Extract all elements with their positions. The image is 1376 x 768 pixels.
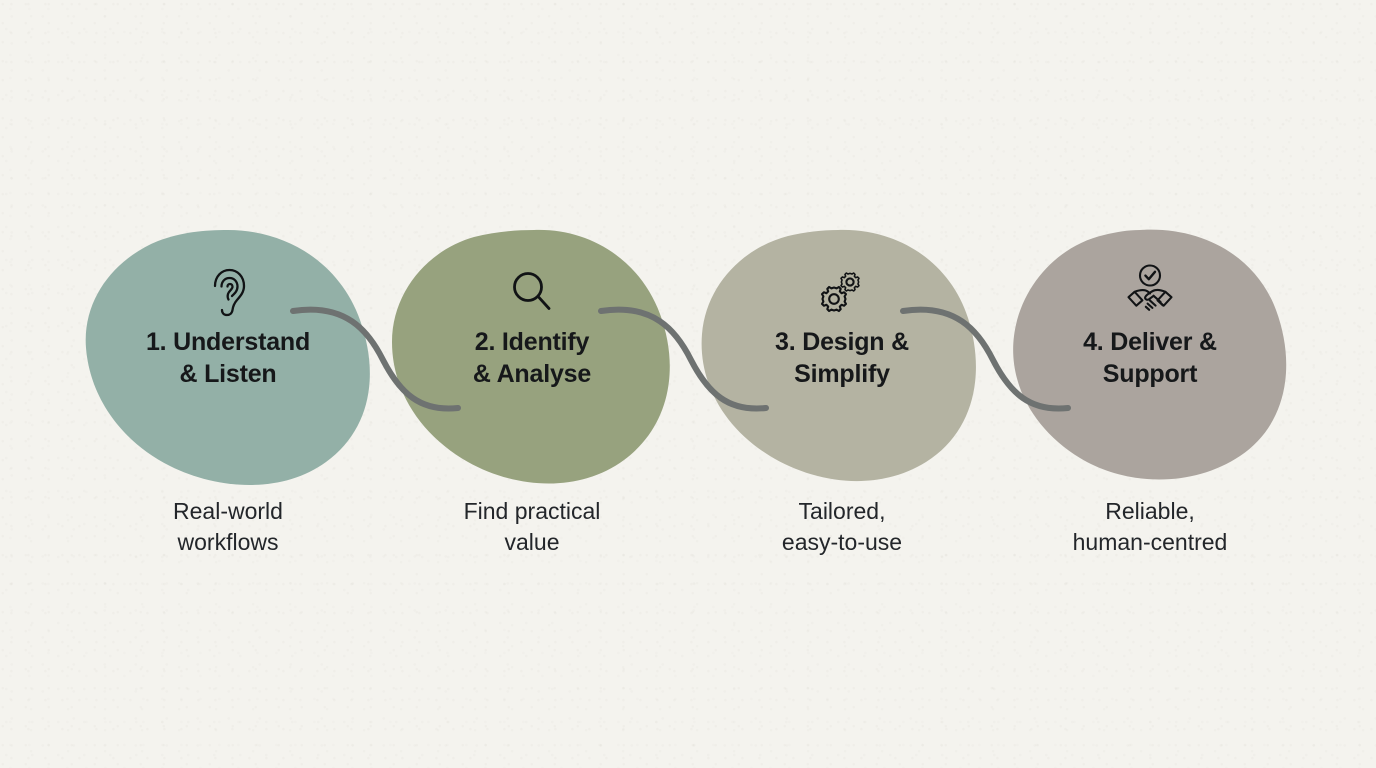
step-card-understand-listen[interactable]: 1. Understand & Listen Real-world workfl… [78,228,378,486]
step-caption: Reliable, human-centred [1000,496,1300,559]
step-card-identify-analyse[interactable]: 2. Identify & Analyse Find practical val… [382,228,682,486]
step-card-deliver-support[interactable]: 4. Deliver & Support Reliable, human-cen… [1000,228,1300,486]
step-caption: Tailored, easy-to-use [692,496,992,559]
blob-shape-deliver-support [1000,228,1300,486]
blob-wrap: 1. Understand & Listen [78,228,378,486]
infographic-stage: 1. Understand & Listen Real-world workfl… [0,0,1376,768]
blob-shape-understand-listen [78,228,378,486]
blob-shape-design-simplify [692,228,992,486]
blob-wrap: 3. Design & Simplify [692,228,992,486]
blob-wrap: 2. Identify & Analyse [382,228,682,486]
step-card-design-simplify[interactable]: 3. Design & Simplify Tailored, easy-to-u… [692,228,992,486]
step-caption: Find practical value [382,496,682,559]
blob-wrap: 4. Deliver & Support [1000,228,1300,486]
blob-shape-identify-analyse [382,228,682,486]
step-caption: Real-world workflows [78,496,378,559]
